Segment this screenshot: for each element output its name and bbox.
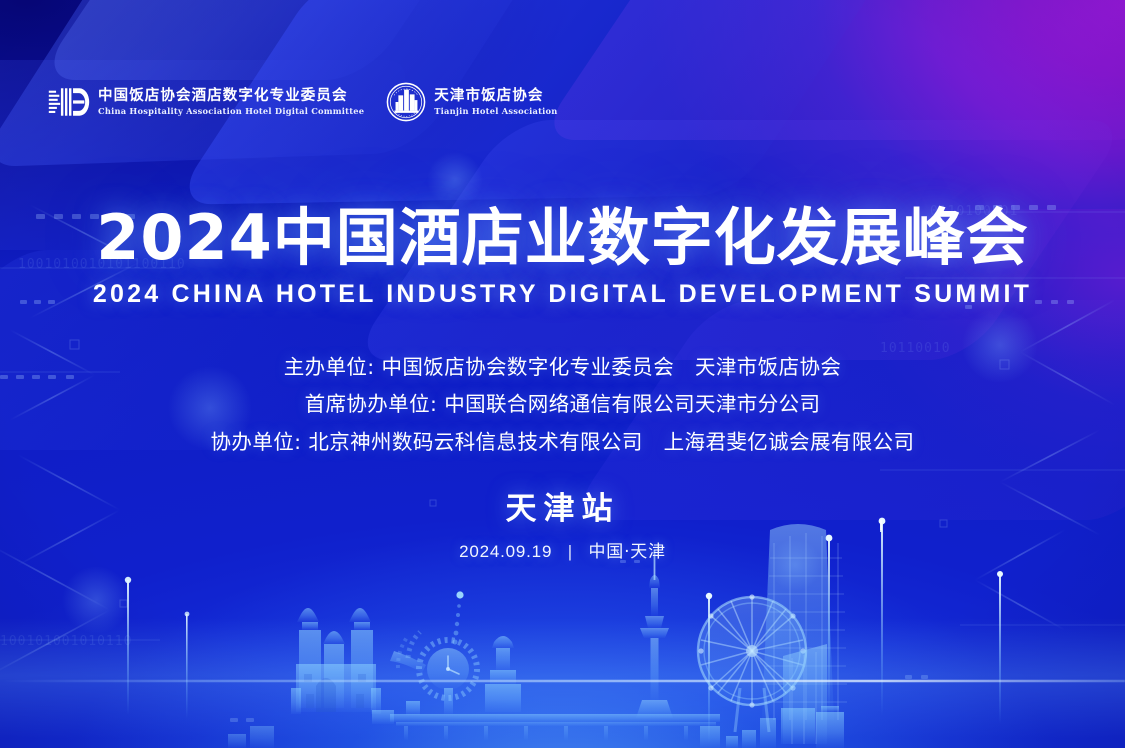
event-poster: 1001010010101100110 100101001010110 0110…: [0, 0, 1125, 748]
tianjin-hotel-association-seal-icon: [386, 82, 426, 122]
main-title-cn: 2024中国酒店业数字化发展峰会: [0, 205, 1125, 272]
station-block: 天津站 2024.09.19 | 中国·天津: [0, 483, 1125, 562]
tha-logo: 天津市饭店协会 Tianjin Hotel Association: [386, 82, 557, 122]
tha-logo-en: Tianjin Hotel Association: [434, 107, 557, 115]
cha-logo-en: China Hospitality Association Hotel Digi…: [98, 107, 364, 115]
station-name: 天津站: [0, 483, 1125, 528]
event-date: 2024.09.19: [459, 542, 552, 561]
organizer-logo-bar: 中国饭店协会酒店数字化专业委员会 China Hospitality Assoc…: [48, 82, 558, 122]
cha-digital-committee-logo-icon: [48, 85, 90, 119]
cha-logo: 中国饭店协会酒店数字化专业委员会 China Hospitality Assoc…: [48, 85, 364, 119]
station-date-line: 2024.09.19 | 中国·天津: [0, 537, 1125, 562]
event-location: 中国·天津: [588, 542, 665, 562]
organizer-line-host: 主办单位: 中国饭店协会数字化专业委员会 天津市饭店协会: [0, 349, 1125, 386]
tha-logo-text: 天津市饭店协会 Tianjin Hotel Association: [434, 89, 557, 115]
main-title-en: 2024 CHINA HOTEL INDUSTRY DIGITAL DEVELO…: [0, 280, 1125, 309]
date-separator: |: [568, 542, 573, 561]
cha-logo-text: 中国饭店协会酒店数字化专业委员会 China Hospitality Assoc…: [98, 89, 364, 115]
tha-logo-cn: 天津市饭店协会: [434, 89, 557, 104]
organizer-line-chief-coorganizer: 首席协办单位: 中国联合网络通信有限公司天津市分公司: [0, 386, 1125, 423]
organizer-line-coorganizers: 协办单位: 北京神州数码云科信息技术有限公司 上海君斐亿诚会展有限公司: [0, 424, 1125, 461]
title-block: 2024中国酒店业数字化发展峰会 2024 CHINA HOTEL INDUST…: [0, 205, 1125, 309]
organizers-block: 主办单位: 中国饭店协会数字化专业委员会 天津市饭店协会 首席协办单位: 中国联…: [0, 349, 1125, 461]
cha-logo-cn: 中国饭店协会酒店数字化专业委员会: [98, 89, 364, 104]
